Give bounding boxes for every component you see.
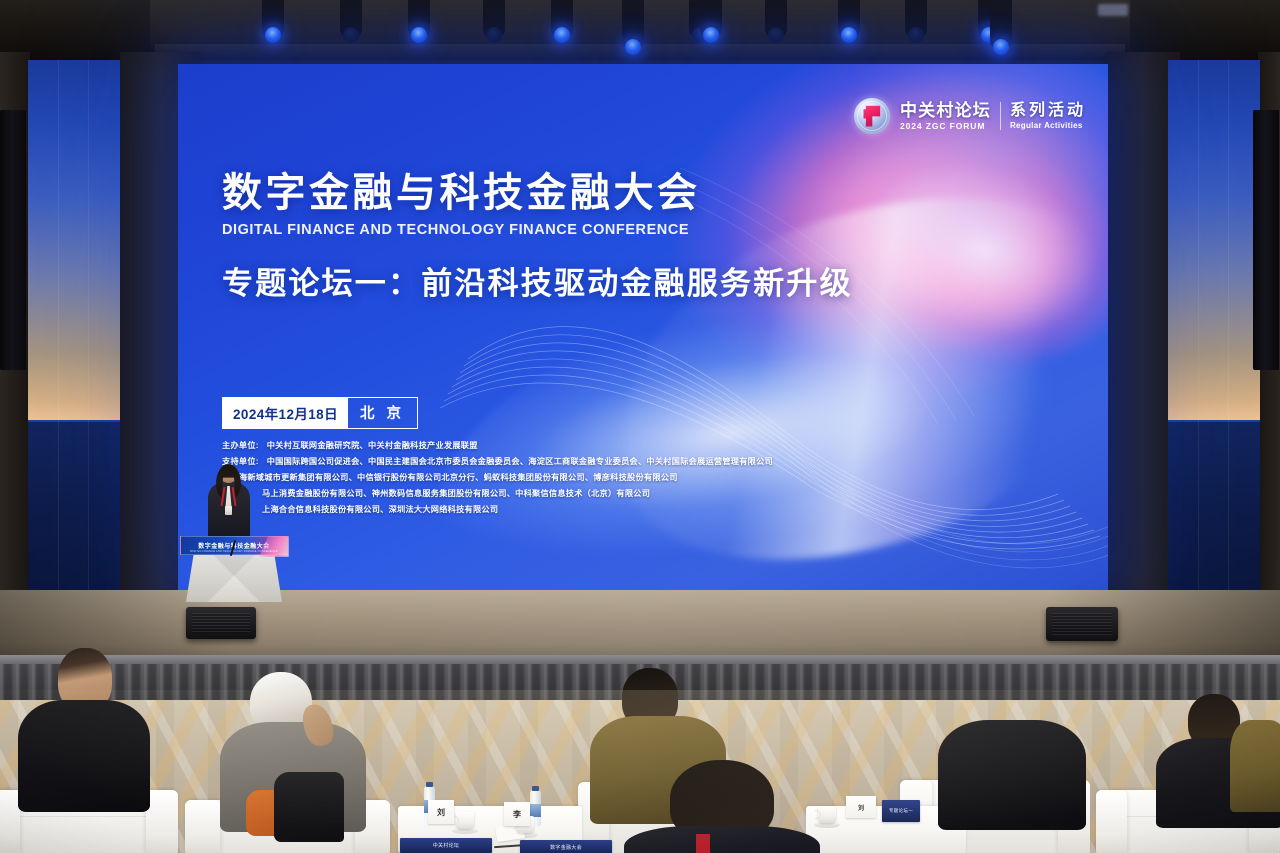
stage-light-icon — [905, 0, 927, 38]
led-backdrop-screen: 中关村论坛 2024 ZGC FORUM 系列活动 Regular Activi… — [178, 64, 1108, 596]
audience-person — [948, 672, 1076, 822]
zgc-forum-logo: 中关村论坛 2024 ZGC FORUM 系列活动 Regular Activi… — [854, 98, 1086, 134]
hall-ceiling — [0, 0, 1280, 60]
podium-banner-subtitle: DIGITAL FINANCE AND TECHNOLOGY FINANCE C… — [181, 550, 287, 553]
panel-upper-glow — [1168, 60, 1260, 420]
tea-cup — [818, 806, 836, 823]
logo-series-cn: 系列活动 — [1010, 103, 1086, 119]
speaker-badge — [225, 506, 232, 515]
person-jacket — [274, 772, 344, 842]
speaking-podium: 数字金融与科技金融大会 DIGITAL FINANCE AND TECHNOLO… — [180, 536, 288, 602]
tent-card-name: 刘 — [437, 807, 445, 818]
podium-banner-ribbon — [259, 536, 289, 557]
stage-monitor-left — [186, 607, 256, 639]
stage-skirt-top-band — [0, 655, 1280, 664]
stage-light-icon — [483, 0, 505, 38]
tea-cup — [456, 812, 474, 829]
organizer-line: 上海合合信息科技股份有限公司、深圳法大大网络科技有限公司 — [222, 502, 1022, 518]
audience-person-foreground — [638, 760, 806, 853]
logo-brand-cn: 中关村论坛 — [900, 102, 991, 119]
organizer-line: 支持单位:中国国际跨国公司促进会、中国民主建国会北京市委员会金融委员会、海淀区工… — [222, 454, 1022, 470]
led-title-block: 数字金融与科技金融大会 DIGITAL FINANCE AND TECHNOLO… — [222, 172, 982, 303]
audience-person — [28, 648, 138, 808]
organizer-text: 马上消费金融股份有限公司、神州数码信息服务集团股份有限公司、中科聚信信息技术（北… — [262, 489, 650, 498]
audience-person — [228, 672, 358, 817]
stage-monitor-right — [1046, 607, 1118, 641]
stage-light-icon — [340, 0, 362, 38]
table-name-card: 数字金融大会 — [520, 840, 612, 853]
table-name-card: 中关村论坛 — [400, 838, 492, 853]
stage-light-icon — [551, 0, 573, 38]
side-light-panel-right — [1168, 60, 1260, 640]
side-light-panel-left — [28, 60, 120, 640]
conference-title-en: DIGITAL FINANCE AND TECHNOLOGY FINANCE C… — [222, 222, 982, 238]
name-card-text: 数字金融大会 — [550, 844, 582, 851]
organizers-block: 主办单位:中关村互联网金融研究院、中关村金融科技产业发展联盟 支持单位:中国国际… — [222, 438, 1022, 518]
table-name-card: 专题论坛一 — [882, 800, 920, 822]
forum-session-title: 专题论坛一：前沿科技驱动金融服务新升级 — [222, 258, 982, 303]
stage-light-icon — [765, 0, 787, 38]
stage-light-icon — [622, 0, 644, 50]
name-card-text: 中关村论坛 — [433, 842, 460, 849]
name-card-text: 专题论坛一 — [889, 808, 913, 814]
conference-title-cn: 数字金融与科技金融大会 — [222, 172, 982, 215]
place-tent-card: 刘 — [846, 796, 876, 818]
tent-card-name: 刘 — [858, 803, 864, 812]
podium-body — [186, 554, 282, 602]
organizer-line: 主办单位:中关村互联网金融研究院、中关村金融科技产业发展联盟 — [222, 438, 1022, 454]
person-torso — [1230, 720, 1280, 812]
logo-divider — [1000, 102, 1001, 130]
ceiling-spot-icon — [1098, 4, 1128, 16]
organizer-line: 马上消费金融股份有限公司、神州数码信息服务集团股份有限公司、中科聚信信息技术（北… — [222, 486, 1022, 502]
stage-light-icon — [990, 0, 1012, 50]
organizer-label: 主办单位: — [222, 441, 259, 450]
line-array-speaker-right — [1253, 110, 1279, 370]
event-city: 北 京 — [348, 398, 417, 428]
logo-series-en: Regular Activities — [1010, 122, 1086, 130]
logo-brand-en: 2024 ZGC FORUM — [900, 122, 991, 131]
person-torso — [624, 826, 820, 853]
tent-card-name: 李 — [513, 809, 521, 820]
zgc-forum-emblem-icon — [854, 98, 890, 134]
podium-speaker-person — [203, 466, 255, 542]
organizer-text: 北京海新域城市更新集团有限公司、中信银行股份有限公司北京分行、蚂蚁科技集团股份有… — [222, 473, 678, 482]
event-meta-badge: 2024年12月18日 北 京 — [222, 397, 418, 429]
person-lanyard — [696, 834, 710, 853]
line-array-speaker-left — [0, 110, 26, 370]
person-torso — [18, 700, 150, 812]
event-date: 2024年12月18日 — [223, 398, 348, 428]
audience-person-edge — [1230, 700, 1280, 810]
organizer-text: 中关村互联网金融研究院、中关村金融科技产业发展联盟 — [267, 441, 478, 450]
place-tent-card: 刘 — [428, 800, 454, 824]
stage-light-icon — [408, 0, 430, 38]
organizer-line: 北京海新域城市更新集团有限公司、中信银行股份有限公司北京分行、蚂蚁科技集团股份有… — [222, 470, 1022, 486]
stage-light-icon — [262, 0, 284, 38]
place-tent-card: 李 — [504, 802, 530, 826]
person-torso — [938, 720, 1086, 830]
stage-light-icon — [700, 0, 722, 38]
organizer-text: 上海合合信息科技股份有限公司、深圳法大大网络科技有限公司 — [262, 505, 498, 514]
panel-upper-glow — [28, 60, 120, 420]
conference-scene: 中关村论坛 2024 ZGC FORUM 系列活动 Regular Activi… — [0, 0, 1280, 853]
stage-light-icon — [838, 0, 860, 38]
organizer-text: 中国国际跨国公司促进会、中国民主建国会北京市委员会金融委员会、海淀区工商联金融专… — [267, 457, 773, 466]
